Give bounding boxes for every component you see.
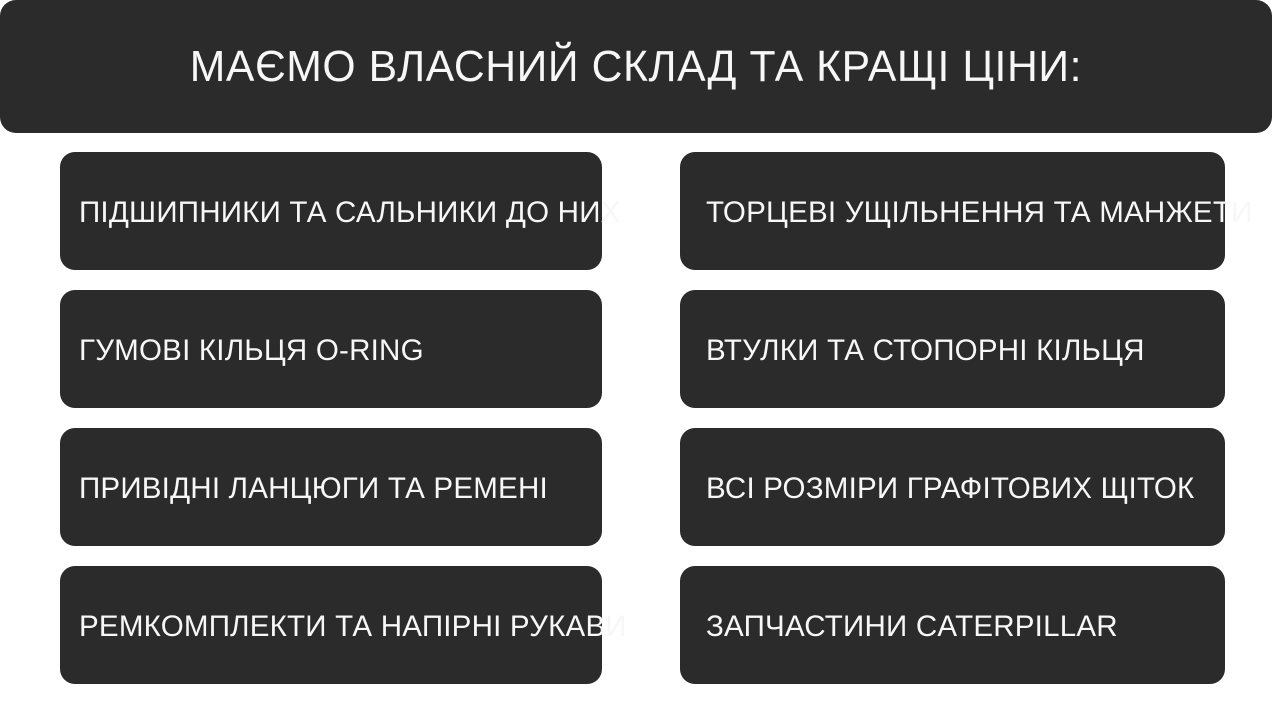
service-card-label: ПІДШИПНИКИ ТА САЛЬНИКИ ДО НИХ xyxy=(79,198,621,228)
service-card-drive-chains-and-belts[interactable]: ПРИВІДНІ ЛАНЦЮГИ ТА РЕМЕНІ xyxy=(60,428,602,546)
card-column-right: ТОРЦЕВІ УЩІЛЬНЕННЯ ТА МАНЖЕТИ ВТУЛКИ ТА … xyxy=(680,152,1225,684)
service-card-label: РЕМКОМПЛЕКТИ ТА НАПІРНІ РУКАВИ xyxy=(79,612,627,642)
service-card-repair-kits-and-pressure-hoses[interactable]: РЕМКОМПЛЕКТИ ТА НАПІРНІ РУКАВИ xyxy=(60,566,602,684)
service-card-caterpillar-spare-parts[interactable]: ЗАПЧАСТИНИ CATERPILLAR xyxy=(680,566,1225,684)
service-card-bearings-and-seals[interactable]: ПІДШИПНИКИ ТА САЛЬНИКИ ДО НИХ xyxy=(60,152,602,270)
service-card-bushings-and-retaining-rings[interactable]: ВТУЛКИ ТА СТОПОРНІ КІЛЬЦЯ xyxy=(680,290,1225,408)
service-card-label: ПРИВІДНІ ЛАНЦЮГИ ТА РЕМЕНІ xyxy=(79,474,548,504)
page-title: МАЄМО ВЛАСНИЙ СКЛАД ТА КРАЩІ ЦІНИ: xyxy=(190,45,1082,89)
service-card-mechanical-seals-and-cuffs[interactable]: ТОРЦЕВІ УЩІЛЬНЕННЯ ТА МАНЖЕТИ xyxy=(680,152,1225,270)
service-card-label: ЗАПЧАСТИНИ CATERPILLAR xyxy=(706,612,1118,642)
service-card-oring-rubber-rings[interactable]: ГУМОВІ КІЛЬЦЯ O-RING xyxy=(60,290,602,408)
service-card-grid: ПІДШИПНИКИ ТА САЛЬНИКИ ДО НИХ ГУМОВІ КІЛ… xyxy=(0,152,1280,684)
header-banner: МАЄМО ВЛАСНИЙ СКЛАД ТА КРАЩІ ЦІНИ: xyxy=(0,0,1272,133)
service-card-label: ВТУЛКИ ТА СТОПОРНІ КІЛЬЦЯ xyxy=(706,336,1145,366)
service-card-label: ГУМОВІ КІЛЬЦЯ O-RING xyxy=(79,336,424,366)
service-card-label: ВСІ РОЗМІРИ ГРАФІТОВИХ ЩІТОК xyxy=(706,474,1194,504)
service-card-label: ТОРЦЕВІ УЩІЛЬНЕННЯ ТА МАНЖЕТИ xyxy=(706,198,1253,228)
card-column-left: ПІДШИПНИКИ ТА САЛЬНИКИ ДО НИХ ГУМОВІ КІЛ… xyxy=(60,152,602,684)
service-card-graphite-brushes[interactable]: ВСІ РОЗМІРИ ГРАФІТОВИХ ЩІТОК xyxy=(680,428,1225,546)
